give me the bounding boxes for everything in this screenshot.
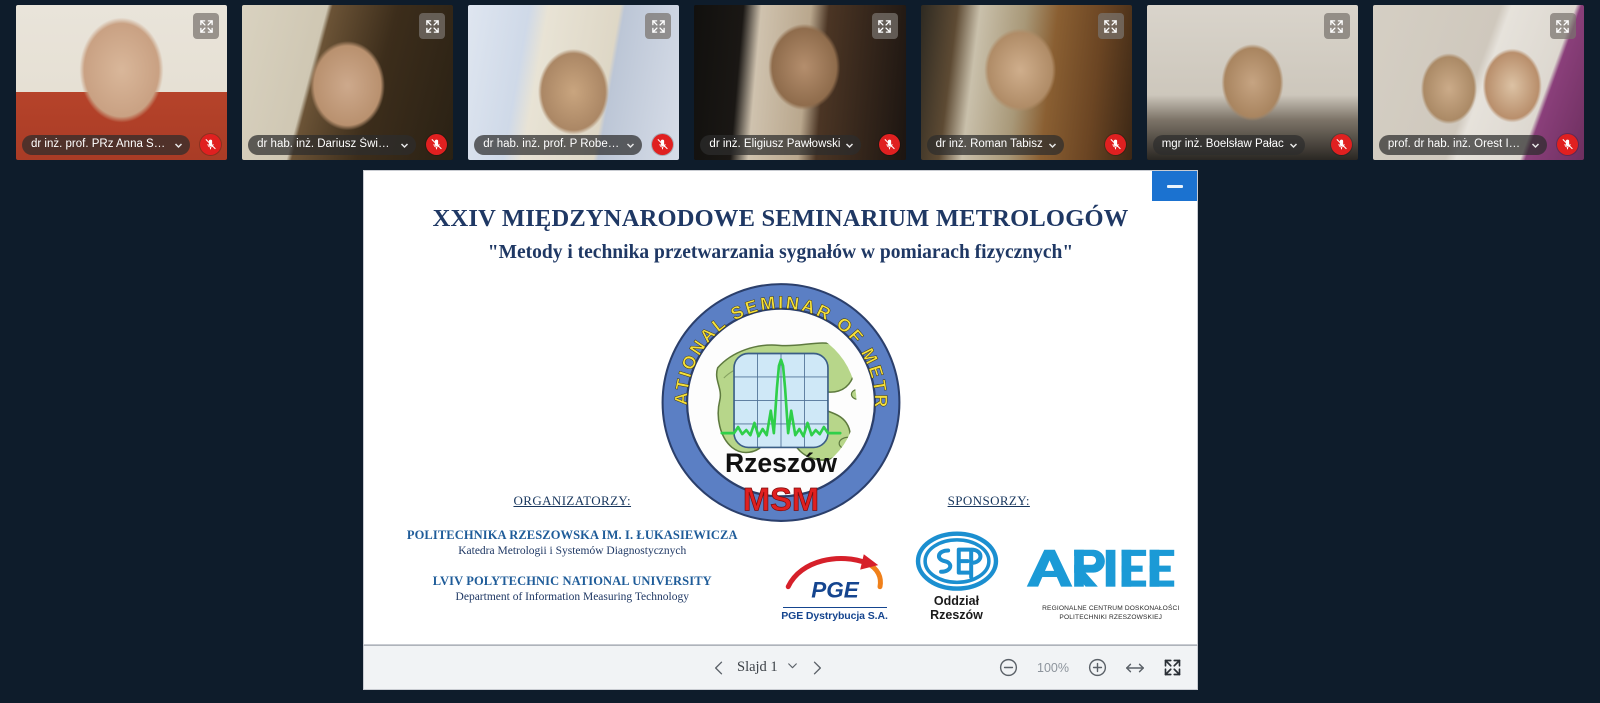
participant-name: dr hab. inż. Dariusz Świsuls… xyxy=(257,137,395,152)
chevron-down-icon[interactable] xyxy=(626,140,635,149)
fit-width-icon[interactable] xyxy=(1124,657,1146,679)
participant-tile-footer: prof. dr hab. inż. Orest Ivak… xyxy=(1373,134,1584,155)
expand-icon[interactable] xyxy=(1098,13,1124,39)
svg-text:Rzeszów: Rzeszów xyxy=(724,448,836,478)
mic-muted-icon[interactable] xyxy=(652,134,673,155)
participant-tile[interactable]: dr hab. inż. Dariusz Świsuls… xyxy=(242,5,453,160)
slide-canvas[interactable]: XXIV MIĘDZYNARODOWE SEMINARIUM METROLOGÓ… xyxy=(363,170,1198,645)
sponsor-sep: Oddział Rzeszów xyxy=(911,531,1003,622)
organizers-heading: ORGANIZATORZY: xyxy=(364,493,781,509)
sponsor-label: REGIONALNE CENTRUM DOSKONAŁOŚCI POLITECH… xyxy=(1025,604,1198,622)
zoom-level: 100% xyxy=(1035,661,1071,675)
sponsors-heading: SPONSORZY: xyxy=(781,493,1198,509)
zoom-out-icon[interactable] xyxy=(998,657,1019,678)
sponsor-label: PGE Dystrybucja S.A. xyxy=(781,610,889,622)
chevron-down-icon[interactable] xyxy=(786,659,799,677)
participant-name-menu[interactable]: dr inż. Roman Tabisz xyxy=(927,135,1064,155)
participant-name: prof. dr hab. inż. Orest Ivak… xyxy=(1388,137,1526,152)
slide-title: XXIV MIĘDZYNARODOWE SEMINARIUM METROLOGÓ… xyxy=(364,205,1197,233)
organizer-name: POLITECHNIKA RZESZOWSKA IM. I. ŁUKASIEWI… xyxy=(364,528,781,543)
expand-icon[interactable] xyxy=(419,13,445,39)
slide-selector[interactable]: Slajd 1 xyxy=(737,659,799,677)
participant-name-menu[interactable]: dr hab. inż. Dariusz Świsuls… xyxy=(248,135,416,155)
participant-tile-footer: mgr inż. Boelsław Pałac xyxy=(1147,134,1358,155)
slide-subtitle: "Metody i technika przetwarzania sygnałó… xyxy=(364,242,1197,264)
organizer-entry: POLITECHNIKA RZESZOWSKA IM. I. ŁUKASIEWI… xyxy=(364,528,781,557)
participant-name: dr inż. Eligiusz Pawłowski xyxy=(709,137,840,152)
participant-tile[interactable]: prof. dr hab. inż. Orest Ivak… xyxy=(1373,5,1584,160)
chevron-down-icon[interactable] xyxy=(845,140,854,149)
participant-video-strip: dr inż. prof. PRz Anna Szlac… dr hab. in… xyxy=(0,0,1600,165)
participant-tile[interactable]: dr inż. Eligiusz Pawłowski xyxy=(694,5,905,160)
organizer-entry: LVIV POLYTECHNIC NATIONAL UNIVERSITY Dep… xyxy=(364,574,781,603)
mic-muted-icon[interactable] xyxy=(200,134,221,155)
svg-text:PGE: PGE xyxy=(811,578,860,603)
mic-muted-icon[interactable] xyxy=(1105,134,1126,155)
participant-tile-footer: dr hab. inż. prof. P Robert … xyxy=(468,134,679,155)
expand-icon[interactable] xyxy=(193,13,219,39)
participant-name-menu[interactable]: dr hab. inż. prof. P Robert … xyxy=(474,135,642,155)
msm-logo: INTERNATIONAL SEMINAR OF METROLOGY xyxy=(658,280,903,525)
slide-navigation: Slajd 1 xyxy=(709,658,827,678)
participant-name: dr inż. prof. PRz Anna Szlac… xyxy=(31,137,169,152)
participant-tile[interactable]: dr inż. prof. PRz Anna Szlac… xyxy=(16,5,227,160)
chevron-down-icon[interactable] xyxy=(1289,140,1298,149)
organizer-name: LVIV POLYTECHNIC NATIONAL UNIVERSITY xyxy=(364,574,781,589)
slide-toolbar: Slajd 1 100% xyxy=(363,645,1198,690)
chevron-left-icon[interactable] xyxy=(709,658,729,678)
pge-logo: PGE xyxy=(781,545,889,605)
participant-name-menu[interactable]: dr inż. prof. PRz Anna Szlac… xyxy=(22,135,190,155)
sponsor-logo-row: PGE PGE Dystrybucja S.A. xyxy=(781,531,1198,622)
arieet-logo xyxy=(1025,546,1183,602)
chevron-down-icon[interactable] xyxy=(174,140,183,149)
sep-logo xyxy=(911,531,1003,593)
chevron-down-icon[interactable] xyxy=(1048,140,1057,149)
expand-icon[interactable] xyxy=(872,13,898,39)
mic-muted-icon[interactable] xyxy=(1331,134,1352,155)
sponsors-column: SPONSORZY: PGE xyxy=(781,493,1198,622)
expand-icon[interactable] xyxy=(1550,13,1576,39)
slide-number-label: Slajd 1 xyxy=(737,659,778,676)
participant-name: dr inż. Roman Tabisz xyxy=(936,137,1043,152)
sponsor-arieet: REGIONALNE CENTRUM DOSKONAŁOŚCI POLITECH… xyxy=(1025,546,1198,622)
slide-zoom-controls: 100% xyxy=(998,657,1183,679)
participant-name-menu[interactable]: dr inż. Eligiusz Pawłowski xyxy=(700,135,861,155)
expand-icon[interactable] xyxy=(645,13,671,39)
organizer-department: Department of Information Measuring Tech… xyxy=(364,591,781,603)
organizer-department: Katedra Metrologii i Systemów Diagnostyc… xyxy=(364,545,781,557)
participant-tile-footer: dr inż. Roman Tabisz xyxy=(921,134,1132,155)
participant-tile[interactable]: dr inż. Roman Tabisz xyxy=(921,5,1132,160)
fullscreen-icon[interactable] xyxy=(1162,657,1183,678)
participant-name-menu[interactable]: mgr inż. Boelsław Pałac xyxy=(1153,135,1305,155)
participant-tile-footer: dr inż. prof. PRz Anna Szlac… xyxy=(16,134,227,155)
minimize-icon[interactable] xyxy=(1152,171,1197,201)
participant-tile-footer: dr hab. inż. Dariusz Świsuls… xyxy=(242,134,453,155)
sponsor-pge: PGE PGE Dystrybucja S.A. xyxy=(781,545,889,622)
participant-tile-footer: dr inż. Eligiusz Pawłowski xyxy=(694,134,905,155)
meeting-window: dr inż. prof. PRz Anna Szlac… dr hab. in… xyxy=(0,0,1600,703)
mic-muted-icon[interactable] xyxy=(1557,134,1578,155)
mic-muted-icon[interactable] xyxy=(426,134,447,155)
chevron-down-icon[interactable] xyxy=(1531,140,1540,149)
zoom-in-icon[interactable] xyxy=(1087,657,1108,678)
sponsor-label: Oddział Rzeszów xyxy=(911,594,1003,622)
expand-icon[interactable] xyxy=(1324,13,1350,39)
mic-muted-icon[interactable] xyxy=(879,134,900,155)
participant-name: dr hab. inż. prof. P Robert … xyxy=(483,137,621,152)
participant-name: mgr inż. Boelsław Pałac xyxy=(1162,137,1284,152)
chevron-down-icon[interactable] xyxy=(400,140,409,149)
chevron-right-icon[interactable] xyxy=(807,658,827,678)
shared-content-panel: XXIV MIĘDZYNARODOWE SEMINARIUM METROLOGÓ… xyxy=(363,170,1198,690)
participant-tile[interactable]: dr hab. inż. prof. P Robert … xyxy=(468,5,679,160)
organizers-column: ORGANIZATORZY: POLITECHNIKA RZESZOWSKA I… xyxy=(364,493,781,622)
slide-footer-columns: ORGANIZATORZY: POLITECHNIKA RZESZOWSKA I… xyxy=(364,493,1197,622)
participant-name-menu[interactable]: prof. dr hab. inż. Orest Ivak… xyxy=(1379,135,1547,155)
participant-tile[interactable]: mgr inż. Boelsław Pałac xyxy=(1147,5,1358,160)
